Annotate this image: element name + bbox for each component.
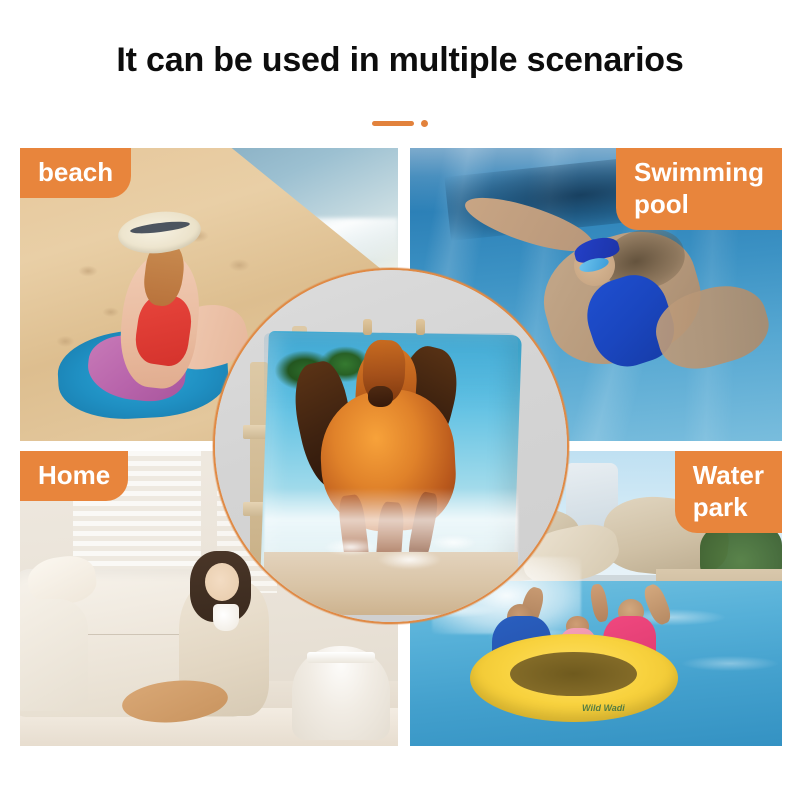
scenario-tag-home: Home — [20, 451, 128, 501]
divider-dot — [421, 120, 428, 127]
title-divider — [0, 118, 800, 128]
towel-clip-right — [416, 319, 425, 335]
promo-page: It can be used in multiple scenarios — [0, 0, 800, 800]
towel-clip-left — [363, 319, 372, 335]
scenario-tag-beach: beach — [20, 148, 131, 198]
page-title: It can be used in multiple scenarios — [0, 38, 800, 82]
product-highlight-circle[interactable] — [213, 268, 569, 624]
scenario-tag-swimming-pool: Swimming pool — [616, 148, 782, 230]
raft-logo: Wild Wadi — [574, 699, 634, 717]
scenario-tag-water-park: Water park — [675, 451, 782, 533]
divider-bar — [372, 121, 414, 126]
